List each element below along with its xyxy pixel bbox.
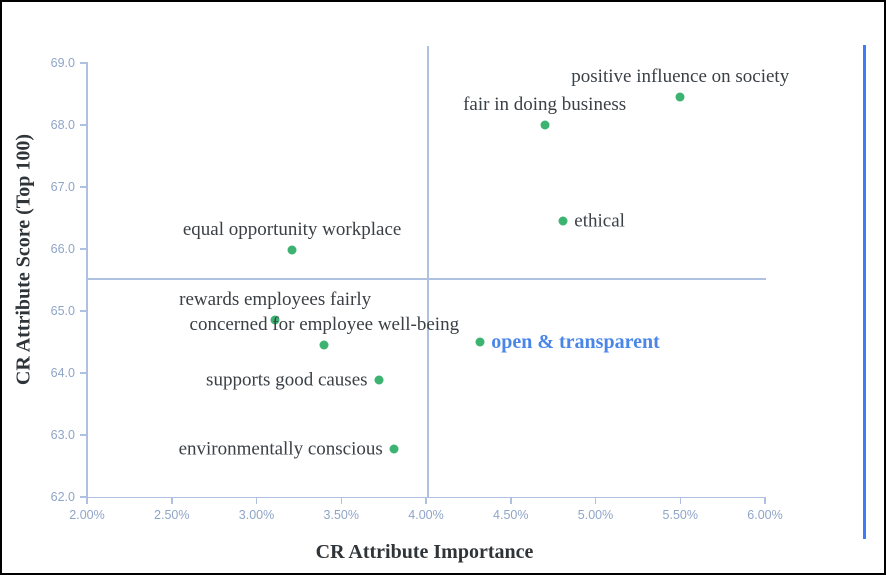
x-tick-label: 5.50% <box>650 508 710 522</box>
x-tick <box>425 498 427 504</box>
y-tick <box>80 496 86 498</box>
y-tick <box>80 434 86 436</box>
y-tick <box>80 62 86 64</box>
data-point-marker[interactable] <box>320 341 329 350</box>
x-tick <box>86 498 88 504</box>
y-axis-title: CR Attribute Score (Top 100) <box>13 95 36 425</box>
y-axis-line <box>86 62 88 498</box>
data-point-marker[interactable] <box>676 93 685 102</box>
y-tick-label: 68.0 <box>35 118 75 132</box>
data-point-label: positive influence on society <box>571 67 789 86</box>
x-tick <box>510 498 512 504</box>
y-tick-label: 69.0 <box>35 56 75 70</box>
x-tick <box>595 498 597 504</box>
data-point-marker[interactable] <box>540 121 549 130</box>
x-tick-label: 4.00% <box>396 508 456 522</box>
x-tick <box>341 498 343 504</box>
data-point-label: fair in doing business <box>463 95 626 114</box>
y-tick-label: 67.0 <box>35 180 75 194</box>
data-point-marker[interactable] <box>288 246 297 255</box>
data-point-label: equal opportunity workplace <box>183 220 401 239</box>
y-tick-label: 62.0 <box>35 490 75 504</box>
x-tick <box>171 498 173 504</box>
quadrant-horizontal-line <box>87 278 766 280</box>
x-tick-label: 5.00% <box>566 508 626 522</box>
data-point-marker[interactable] <box>476 338 485 347</box>
x-tick-label: 6.00% <box>735 508 795 522</box>
x-tick <box>680 498 682 504</box>
accent-rule <box>863 45 866 539</box>
y-tick-label: 65.0 <box>35 304 75 318</box>
data-point-label: supports good causes <box>206 371 367 390</box>
x-tick-label: 3.50% <box>311 508 371 522</box>
data-point-marker[interactable] <box>389 445 398 454</box>
quadrant-vertical-line <box>427 46 429 498</box>
data-point-label: concerned for employee well-being <box>190 315 460 334</box>
y-tick-label: 63.0 <box>35 428 75 442</box>
y-tick <box>80 186 86 188</box>
y-tick <box>80 248 86 250</box>
y-tick-label: 64.0 <box>35 366 75 380</box>
y-tick <box>80 310 86 312</box>
x-axis-title: CR Attribute Importance <box>2 541 847 564</box>
x-tick-label: 3.00% <box>227 508 287 522</box>
y-tick-label: 66.0 <box>35 242 75 256</box>
x-tick <box>764 498 766 504</box>
x-tick-label: 2.50% <box>142 508 202 522</box>
x-tick <box>256 498 258 504</box>
data-point-label: rewards employees fairly <box>179 290 371 309</box>
y-tick <box>80 372 86 374</box>
data-point-label: environmentally conscious <box>179 440 383 459</box>
data-point-label: ethical <box>574 212 625 231</box>
y-tick <box>80 124 86 126</box>
data-point-marker[interactable] <box>559 217 568 226</box>
data-point-label: open & transparent <box>491 332 660 352</box>
scatter-chart-figure: 62.063.064.065.066.067.068.069.0 2.00%2.… <box>0 0 886 575</box>
x-tick-label: 4.50% <box>481 508 541 522</box>
data-point-marker[interactable] <box>374 376 383 385</box>
x-tick-label: 2.00% <box>57 508 117 522</box>
